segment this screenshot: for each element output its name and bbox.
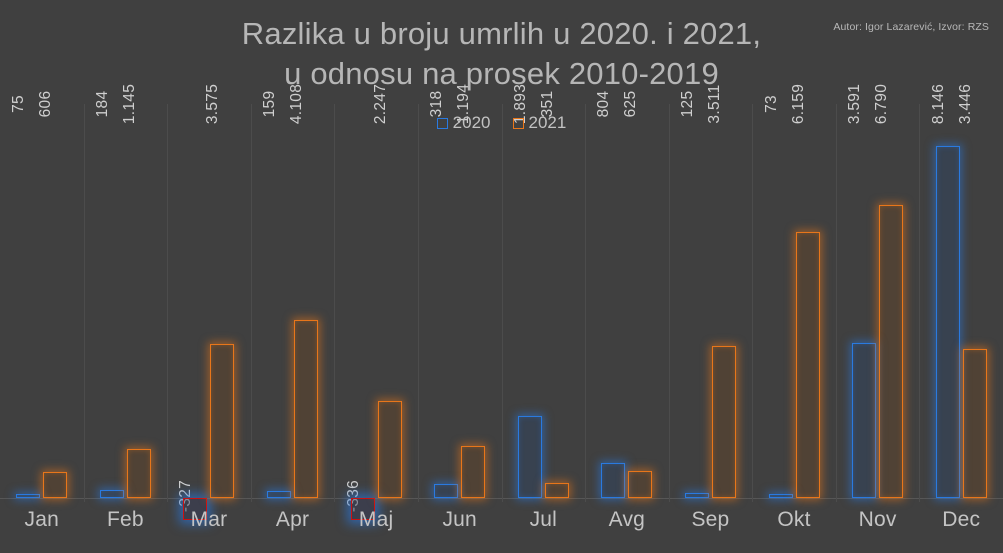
bar-slot-Maj-2021: 2.247	[378, 104, 402, 498]
bar-slot-Feb-2021: 1.145	[127, 104, 151, 498]
bar-Jun-2020[interactable]: 318	[434, 484, 458, 498]
bar-slot-Dec-2021: 3.446	[963, 104, 987, 498]
bar-Sep-2020[interactable]: 125	[685, 493, 709, 498]
bar-Avg-2021[interactable]: 625	[628, 471, 652, 498]
chart-title-line-1: Razlika u broju umrlih u 2020. i 2021,	[0, 14, 1003, 54]
bar-slot-Nov-2021: 6.790	[879, 104, 903, 498]
legend-item-2021[interactable]: 2021	[513, 113, 567, 133]
bar-Okt-2020[interactable]: 73	[769, 494, 793, 498]
bar-group-bars: 736.159	[752, 104, 836, 498]
bar-group-Apr: 1594.108Apr	[251, 104, 335, 498]
bar-slot-Sep-2021: 3.511	[712, 104, 736, 498]
bar-group-bars: 3181.194	[418, 104, 502, 498]
bar-slot-Apr-2021: 4.108	[294, 104, 318, 498]
bar-slot-Sep-2020: 125	[685, 104, 709, 498]
legend-swatch-icon-2020	[437, 118, 448, 129]
bar-Nov-2021[interactable]: 6.790	[879, 205, 903, 498]
bar-Jan-2021[interactable]: 606	[43, 472, 67, 498]
bar-group-Dec: 8.1463.446Dec	[919, 104, 1003, 498]
chart-title-line-2: u odnosu na prosek 2010-2019	[0, 54, 1003, 94]
bar-Maj-2021[interactable]: 2.247	[378, 401, 402, 498]
bar-Sep-2021[interactable]: 3.511	[712, 346, 736, 498]
bar-slot-Avg-2020: 804	[601, 104, 625, 498]
bar-slot-Mar-2020: -327	[183, 104, 207, 498]
category-label-Mar: Mar	[167, 508, 251, 532]
bar-slot-Okt-2020: 73	[769, 104, 793, 498]
bar-slot-Apr-2020: 159	[267, 104, 291, 498]
bar-group-Jan: 75606Jan	[0, 104, 84, 498]
bar-slot-Jan-2020: 75	[16, 104, 40, 498]
bar-Feb-2021[interactable]: 1.145	[127, 449, 151, 498]
category-label-Avg: Avg	[585, 508, 669, 532]
bar-group-bars: 1594.108	[251, 104, 335, 498]
legend-label-2020: 2020	[453, 113, 491, 133]
bar-slot-Jul-2021: 351	[545, 104, 569, 498]
bar-group-Nov: 3.5916.790Nov	[836, 104, 920, 498]
bar-group-bars: -3362.247	[334, 104, 418, 498]
bar-slot-Maj-2020: -336	[351, 104, 375, 498]
bar-Okt-2021[interactable]: 6.159	[796, 232, 820, 498]
category-label-Okt: Okt	[752, 508, 836, 532]
chart-container: Autor: Igor Lazarević, Izvor: RZS Razlik…	[0, 0, 1003, 553]
bar-Dec-2020[interactable]: 8.146	[936, 146, 960, 498]
bar-value-label-Okt-2020: 73	[763, 95, 781, 113]
bar-group-bars: 1841.145	[84, 104, 168, 498]
bar-group-Jun: 3181.194Jun	[418, 104, 502, 498]
bar-group-bars: 8.1463.446	[919, 104, 1003, 498]
chart-legend: 20202021	[0, 113, 1003, 133]
bar-group-bars: 804625	[585, 104, 669, 498]
bar-group-Mar: -3273.575Mar	[167, 104, 251, 498]
bar-Jun-2021[interactable]: 1.194	[461, 446, 485, 498]
bar-Avg-2020[interactable]: 804	[601, 463, 625, 498]
category-label-Nov: Nov	[836, 508, 920, 532]
bar-slot-Jun-2021: 1.194	[461, 104, 485, 498]
chart-title: Razlika u broju umrlih u 2020. i 2021, u…	[0, 14, 1003, 94]
negative-bar-holder: -327	[183, 494, 207, 498]
category-label-Jul: Jul	[502, 508, 586, 532]
category-label-Apr: Apr	[251, 508, 335, 532]
category-label-Feb: Feb	[84, 508, 168, 532]
category-label-Sep: Sep	[669, 508, 753, 532]
legend-swatch-icon-2021	[513, 118, 524, 129]
category-label-Maj: Maj	[334, 508, 418, 532]
legend-label-2021: 2021	[529, 113, 567, 133]
bar-group-Okt: 736.159Okt	[752, 104, 836, 498]
bar-slot-Feb-2020: 184	[100, 104, 124, 498]
category-label-Dec: Dec	[919, 508, 1003, 532]
bar-slot-Okt-2021: 6.159	[796, 104, 820, 498]
bar-slot-Avg-2021: 625	[628, 104, 652, 498]
bar-Apr-2020[interactable]: 159	[267, 491, 291, 498]
category-label-Jan: Jan	[0, 508, 84, 532]
bar-Jul-2020[interactable]: 1.893	[518, 416, 542, 498]
negative-bar-holder: -336	[351, 494, 375, 498]
bar-slot-Dec-2020: 8.146	[936, 104, 960, 498]
bar-group-bars: -3273.575	[167, 104, 251, 498]
category-label-Jun: Jun	[418, 508, 502, 532]
bar-value-label-Jan-2020: 75	[10, 95, 28, 113]
bar-group-Avg: 804625Avg	[585, 104, 669, 498]
bar-slot-Jun-2020: 318	[434, 104, 458, 498]
bar-Mar-2021[interactable]: 3.575	[210, 344, 234, 498]
bar-slot-Nov-2020: 3.591	[852, 104, 876, 498]
bar-group-Sep: 1253.511Sep	[669, 104, 753, 498]
bar-Dec-2021[interactable]: 3.446	[963, 349, 987, 498]
bar-slot-Mar-2021: 3.575	[210, 104, 234, 498]
bar-slot-Jan-2021: 606	[43, 104, 67, 498]
bar-group-bars: 75606	[0, 104, 84, 498]
bar-Apr-2021[interactable]: 4.108	[294, 320, 318, 498]
bar-group-bars: 3.5916.790	[836, 104, 920, 498]
bar-group-Feb: 1841.145Feb	[84, 104, 168, 498]
bar-Nov-2020[interactable]: 3.591	[852, 343, 876, 498]
bar-Jan-2020[interactable]: 75	[16, 494, 40, 498]
bar-slot-Jul-2020: 1.893	[518, 104, 542, 498]
plot-area: 75606Jan1841.145Feb-3273.575Mar1594.108A…	[0, 104, 1003, 502]
legend-item-2020[interactable]: 2020	[437, 113, 491, 133]
bar-group-Jul: 1.893351Jul	[502, 104, 586, 498]
bar-group-bars: 1253.511	[669, 104, 753, 498]
bar-group-bars: 1.893351	[502, 104, 586, 498]
bar-Feb-2020[interactable]: 184	[100, 490, 124, 498]
bar-Jul-2021[interactable]: 351	[545, 483, 569, 498]
bar-group-Maj: -3362.247Maj	[334, 104, 418, 498]
